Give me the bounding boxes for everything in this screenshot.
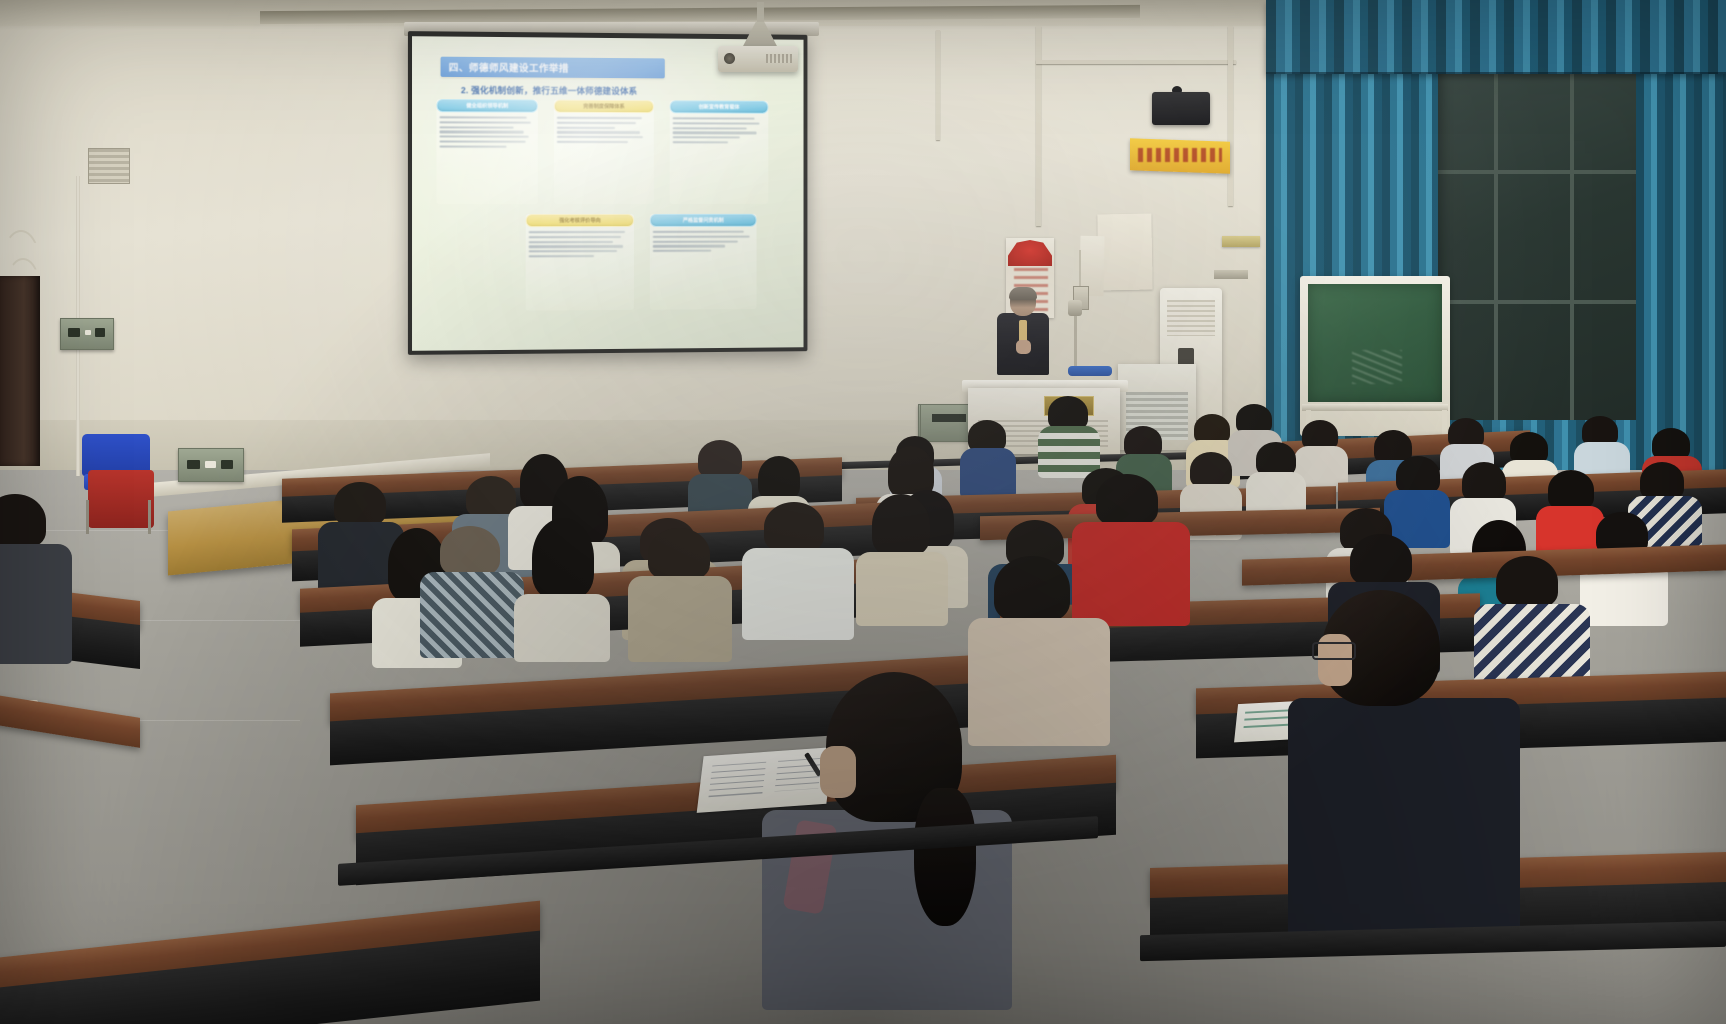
wall-panel-lower-left[interactable] (178, 448, 244, 482)
chalkboard-marks (1352, 350, 1402, 384)
ceiling-projector (718, 46, 798, 72)
suited-person-torso (1288, 698, 1520, 938)
green-chalkboard (1308, 284, 1442, 402)
av-console-slot (932, 414, 966, 422)
slide-subtitle: 2. 强化机制创新，推行五维一体师德建设体系 (461, 84, 637, 97)
lecture-hall-photo: 四、师德师风建设工作举措 2. 强化机制创新，推行五维一体师德建设体系 健全组织… (0, 0, 1726, 1024)
slide-card-1: 健全组织领导机制 (437, 99, 538, 204)
presenter-hair (1009, 287, 1037, 300)
slide-card-5: 严格监督问责机制 (650, 214, 757, 310)
projector-vent (766, 54, 792, 63)
projector-lens (724, 53, 735, 64)
microphone-stand (1074, 312, 1077, 368)
red-stacking-chair[interactable] (88, 470, 154, 528)
slide-card-4-header: 强化考核评价导向 (526, 214, 634, 227)
wall-cord (1079, 250, 1081, 288)
slide-card-1-body (437, 116, 538, 147)
banner-text-block (1138, 148, 1222, 162)
blue-tray-on-podium (1068, 366, 1112, 376)
presenter (994, 288, 1052, 380)
classroom-door[interactable] (0, 276, 40, 466)
curtain-panel-right[interactable] (1636, 40, 1726, 470)
slide-card-5-body (650, 231, 757, 252)
slide-card-3: 创新宣传教育载体 (670, 100, 769, 204)
foreground-person-hand (820, 746, 856, 798)
wall-notice-sheet (1097, 214, 1152, 291)
curtain-valance (1266, 0, 1726, 74)
presenter-hands (1016, 340, 1031, 354)
slide-card-3-header: 创新宣传教育载体 (670, 100, 769, 113)
open-notebook[interactable] (697, 747, 834, 813)
chalkboard-tray (1302, 404, 1448, 411)
wall-vent (88, 148, 130, 184)
projection-screen: 四、师德师风建设工作举措 2. 强化机制创新，推行五维一体师德建设体系 健全组织… (412, 36, 804, 351)
slide-card-2: 完善制度保障体系 (554, 100, 654, 204)
wall-sign-upper (1222, 236, 1260, 247)
slide-card-2-body (554, 117, 654, 143)
wall-conduit-vertical-b (1228, 26, 1233, 206)
eyeglasses (1312, 642, 1356, 660)
foreground-person-ponytail (914, 788, 976, 926)
projection-screen-frame: 四、师德师风建设工作举措 2. 强化机制创新，推行五维一体师德建设体系 健全组织… (408, 31, 808, 355)
slide-card-2-header: 完善制度保障体系 (554, 100, 654, 114)
slide-title: 四、师德师风建设工作举措 (449, 60, 569, 75)
wall-panel-upper-left[interactable] (60, 318, 114, 350)
slide-card-3-body (670, 117, 769, 143)
wall-conduit-horizontal (1036, 60, 1236, 64)
slide-card-5-header: 严格监督问责机制 (650, 214, 757, 227)
slide-card-1-header: 健全组织领导机制 (437, 99, 538, 113)
wall-sign-lower (1214, 270, 1248, 279)
slide-card-4: 强化考核评价导向 (526, 214, 634, 311)
wall-speaker (1152, 92, 1210, 125)
slide-card-4-body (526, 231, 634, 257)
slide-title-bar: 四、师德师风建设工作举措 (441, 57, 665, 79)
microphone-head (1068, 300, 1082, 316)
wall-conduit-vertical-c (936, 30, 940, 140)
air-conditioner-grill (1167, 300, 1215, 336)
wall-conduit-vertical-a (1036, 26, 1041, 226)
